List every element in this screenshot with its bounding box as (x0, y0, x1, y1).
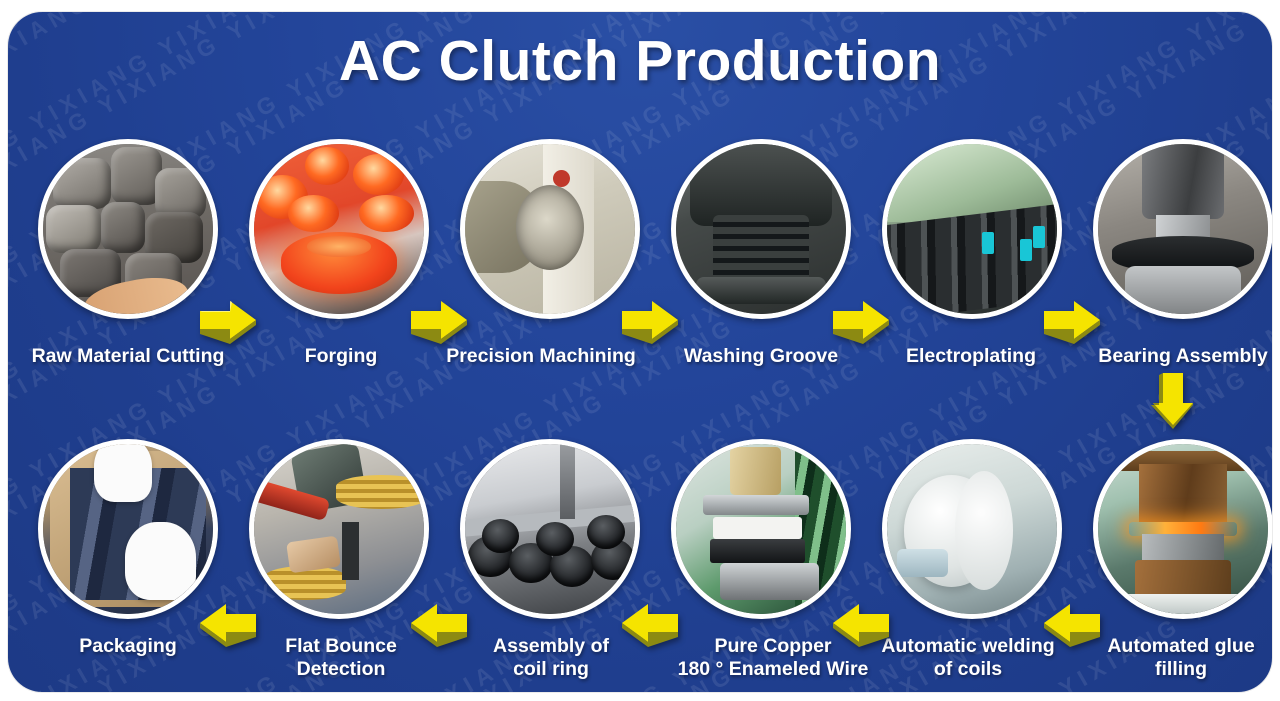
process-image-forging[interactable] (249, 139, 429, 319)
process-image-bearing-assembly[interactable] (1093, 139, 1272, 319)
raw-material-billets-photo (43, 144, 213, 314)
arrow-right-icon-1 (196, 297, 260, 347)
arrow-right-icon-2 (407, 297, 471, 347)
process-image-assembly-of-coil-ring[interactable] (460, 439, 640, 619)
process-label-12-line2: filling (1056, 658, 1272, 681)
arrow-right-icon-4 (829, 297, 893, 347)
process-label-9-line2: coil ring (426, 658, 676, 681)
arrow-left-icon-4 (829, 600, 893, 650)
arrow-down-icon-connector (1147, 369, 1199, 431)
process-image-washing-groove[interactable] (671, 139, 851, 319)
infographic-canvas: YIXIANG YIXIANG YIXIANG YIXIANG YIXIANG … (0, 0, 1280, 701)
blue-panel: YIXIANG YIXIANG YIXIANG YIXIANG YIXIANG … (8, 12, 1272, 692)
arrow-right-icon-3 (618, 297, 682, 347)
cnc-lathe-chuck-photo (465, 144, 635, 314)
arrow-left-icon-2 (407, 600, 471, 650)
process-label-3: Precision Machining (416, 345, 666, 368)
gloved-hands-packing-box-photo (43, 444, 213, 614)
grooved-pulley-machine-photo (676, 144, 846, 314)
arrow-left-icon-3 (618, 600, 682, 650)
black-coil-rings-conveyor-photo (465, 444, 635, 614)
copper-enameled-wire-press-photo (676, 444, 846, 614)
hot-forged-glowing-parts-photo (254, 144, 424, 314)
process-label-6: Bearing Assembly (1058, 345, 1272, 368)
process-image-packaging[interactable] (38, 439, 218, 619)
brass-rings-test-rig-photo (254, 444, 424, 614)
process-image-automatic-welding-of-coils[interactable] (882, 439, 1062, 619)
process-image-electroplating[interactable] (882, 139, 1062, 319)
arrow-right-icon-5 (1040, 297, 1104, 347)
bearing-press-fit-photo (1098, 144, 1268, 314)
process-image-precision-machining[interactable] (460, 139, 640, 319)
process-image-automated-glue-filling[interactable] (1093, 439, 1272, 619)
process-image-pure-copper-enameled-wire[interactable] (671, 439, 851, 619)
page-title: AC Clutch Production (8, 28, 1272, 94)
arrow-left-icon-5 (1040, 600, 1104, 650)
electroplating-bath-pulleys-photo (887, 144, 1057, 314)
process-image-raw-material-cutting[interactable] (38, 139, 218, 319)
arrow-left-icon-1 (196, 600, 260, 650)
white-spool-coil-winding-photo (887, 444, 1057, 614)
process-image-flat-bounce-detection[interactable] (249, 439, 429, 619)
glue-filling-copper-fixture-photo (1098, 444, 1268, 614)
